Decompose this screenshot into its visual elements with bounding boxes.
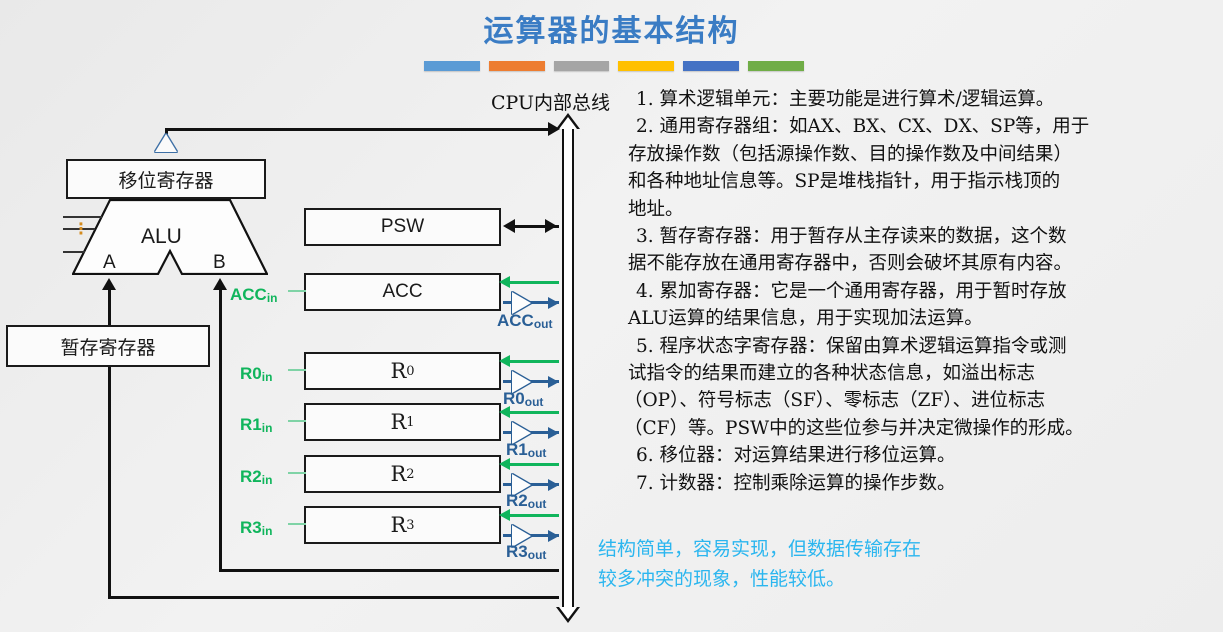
note-line: 试指令的结果而建立的各种状态信息，如溢出标志 [628,360,1220,387]
acc-out-arrowhead [548,297,559,309]
r2-in-label-base: R2 [240,467,262,486]
r2-in-line [507,463,559,466]
r2-out-label-sub: out [528,497,547,511]
shifter-to-bus-line [166,128,552,131]
bus-shaft [562,127,574,609]
r2-in-label: R2in [240,467,272,487]
accent-bar-5 [683,61,739,71]
r1-in-stub [288,420,306,422]
r1-in-label-sub: in [262,421,273,435]
bus-arrow-up-inner [559,117,577,129]
psw-bus-arrow-right [545,219,557,233]
register-box-r3[interactable]: R3 [304,506,501,544]
temp-register-box[interactable]: 暂存寄存器 [6,325,210,367]
conclusion-line: 较多冲突的现象，性能较低。 [598,564,1158,594]
r0-base: R [390,359,406,383]
r1-out-arrowhead [548,427,559,439]
r2-out-label: R2out [506,491,546,511]
alu-port-a-label: A [103,252,116,274]
alu-label: ALU [141,225,182,249]
alu-input-b-arrowhead [213,278,227,290]
acc-out-label: ACCout [497,311,553,331]
r3-in-arrowhead [499,509,510,521]
note-line: （CF）等。PSW中的这些位参与并决定微操作的形成。 [624,415,1220,442]
r2-in-stub [288,472,306,474]
accent-bar-6 [748,61,804,71]
register-box-psw[interactable]: PSW [304,208,501,246]
r3-in-stub [288,523,306,525]
register-box-r1[interactable]: R1 [304,403,501,441]
note-line: 7. 计数器：控制乘除运算的操作步数。 [636,470,1220,497]
accent-bar-2 [489,61,545,71]
alu-input-a-arrowhead [102,278,116,290]
register-box-r2[interactable]: R2 [304,455,501,493]
acc-in-label-sub: in [267,291,278,305]
note-line: 5. 程序状态字寄存器：保留由算术逻辑运算指令或测 [636,333,1220,360]
r2-out-arrowhead [548,479,559,491]
conclusion-text: 结构简单，容易实现，但数据传输存在 较多冲突的现象，性能较低。 [598,534,1158,594]
note-line: 据不能存放在通用寄存器中，否则会破坏其原有内容。 [628,250,1220,277]
acc-in-line [507,281,559,284]
notes-panel: 1. 算术逻辑单元：主要功能是进行算术/逻辑运算。 2. 通用寄存器组：如AX、… [636,86,1220,497]
alu-input-b-line [219,290,222,570]
shifter-output-buffer-icon [155,134,177,152]
r3-out-arrowhead [548,530,559,542]
r3-sub: 3 [406,518,414,533]
accent-bar-group [424,61,804,71]
alu-control-line-1 [63,216,102,218]
cpu-internal-bus [556,113,580,623]
note-line: 地址。 [628,196,1220,223]
r0-in-label-base: R0 [240,364,262,383]
r3-in-label-base: R3 [240,518,262,537]
acc-out-label-sub: out [534,317,553,331]
note-line: 3. 暂存寄存器：用于暂存从主存读来的数据，这个数 [636,223,1220,250]
conclusion-line: 结构简单，容易实现，但数据传输存在 [598,534,1158,564]
acc-in-arrowhead [499,276,510,288]
bus-to-alu-b-feedback-line [219,569,559,572]
r3-out-label: R3out [506,542,546,562]
r3-out-label-base: R3 [506,542,528,561]
note-line: 1. 算术逻辑单元：主要功能是进行算术/逻辑运算。 [636,86,1220,113]
r2-base: R [390,462,406,486]
r0-in-label: R0in [240,364,272,384]
r0-sub: 0 [406,364,414,379]
r1-in-line [507,411,559,414]
r3-base: R [390,513,406,537]
note-line: ALU运算的结果信息，用于实现加法运算。 [628,305,1220,332]
register-box-acc[interactable]: ACC [304,273,501,311]
r3-in-line [507,514,559,517]
acc-in-label: ACCin [230,285,278,305]
r1-out-label: R1out [506,440,546,460]
accent-bar-4 [618,61,674,71]
page-title: 运算器的基本结构 [0,6,1223,50]
slide-canvas: 运算器的基本结构 CPU内部总线 移位寄存器 ALU A B ⋮ 暂存 [0,0,1223,632]
alu-port-b-label: B [213,252,226,274]
r3-in-label-sub: in [262,524,273,538]
r2-in-arrowhead [499,458,510,470]
shift-register-box[interactable]: 移位寄存器 [66,159,266,199]
accent-bar-3 [554,61,610,71]
r1-out-label-base: R1 [506,440,528,459]
r2-out-label-base: R2 [506,491,528,510]
note-line: 存放操作数（包括源操作数、目的操作数及中间结果） [628,141,1220,168]
acc-in-label-base: ACC [230,285,267,304]
note-line: 6. 移位器：对运算结果进行移位运算。 [636,442,1220,469]
bus-arrow-down-inner [559,607,577,619]
note-line: 和各种地址信息等。SP是堆栈指针，用于指示栈顶的 [628,168,1220,195]
r1-out-label-sub: out [528,446,547,460]
note-line: 4. 累加寄存器：它是一个通用寄存器，用于暂时存放 [636,278,1220,305]
alu-control-ellipsis-icon: ⋮ [73,227,89,232]
r1-sub: 1 [406,415,414,430]
r1-in-label: R1in [240,415,272,435]
r1-base: R [390,410,406,434]
r0-in-label-sub: in [262,370,273,384]
bus-to-alu-a-feedback-line [108,596,559,599]
r3-out-label-sub: out [528,548,547,562]
r2-sub: 2 [406,467,414,482]
r0-in-stub [288,369,306,371]
bus-label: CPU内部总线 [491,88,610,115]
acc-in-stub [288,290,306,292]
r0-in-line [507,360,559,363]
r1-in-label-base: R1 [240,415,262,434]
alu-control-line-3 [63,251,85,253]
register-box-r0[interactable]: R0 [304,352,501,390]
psw-bus-arrow-left [503,219,515,233]
r0-out-arrowhead [548,376,559,388]
note-line: 2. 通用寄存器组：如AX、BX、CX、DX、SP等，用于 [636,113,1220,140]
r3-in-label: R3in [240,518,272,538]
shifter-to-bus-arrowhead [548,122,560,136]
accent-bar-1 [424,61,480,71]
note-line: （OP）、符号标志（SF）、零标志（ZF）、进位标志 [624,387,1220,414]
r0-in-arrowhead [499,355,510,367]
r1-in-arrowhead [499,406,510,418]
r2-in-label-sub: in [262,473,273,487]
r0-out-label-sub: out [525,395,544,409]
acc-out-label-base: ACC [497,311,534,330]
